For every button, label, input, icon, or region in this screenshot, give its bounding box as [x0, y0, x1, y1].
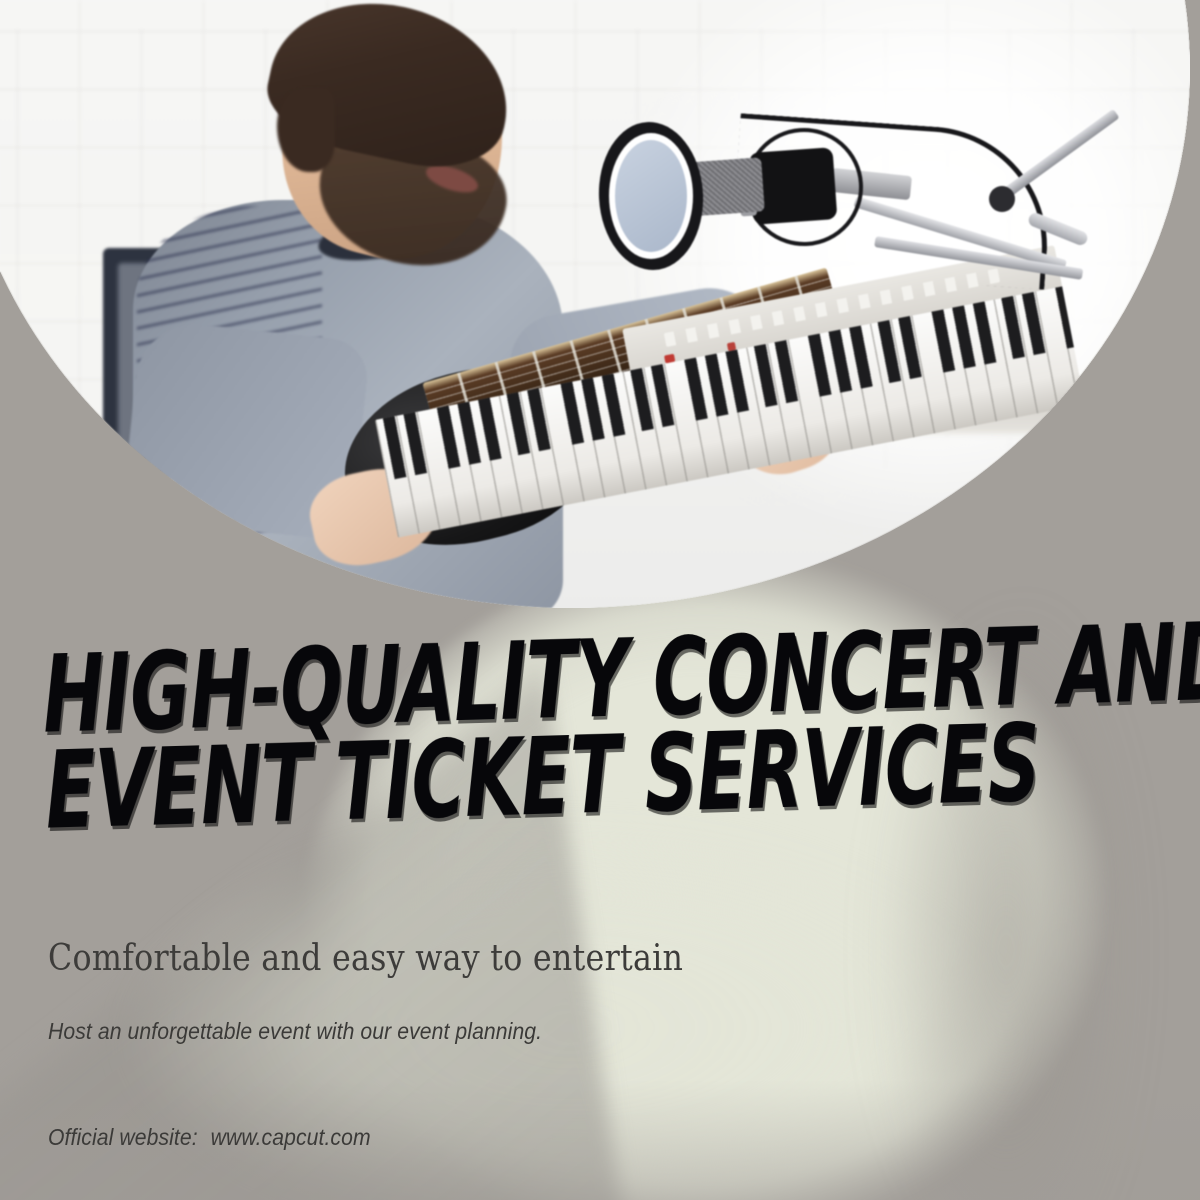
- pop-filter-mesh: [615, 140, 687, 252]
- hero-photo-scene: [0, 0, 1190, 608]
- website-label: Official website:: [48, 1124, 198, 1150]
- tagline-text: Host an unforgettable event with our eve…: [48, 1018, 542, 1045]
- headline-block: HIGH-QUALITY CONCERT AND EVENT TICKET SE…: [42, 621, 1097, 837]
- subheadline-text: Comfortable and easy way to entertain: [48, 938, 683, 979]
- hero-photo-inner: [0, 0, 1190, 608]
- headline-line-2: EVENT TICKET SERVICES: [44, 716, 887, 844]
- website-url[interactable]: www.capcut.com: [211, 1124, 371, 1150]
- poster-canvas: HIGH-QUALITY CONCERT AND EVENT TICKET SE…: [0, 0, 1200, 1200]
- boom-arm-joint: [989, 186, 1015, 212]
- official-website-line: Official website:www.capcut.com: [48, 1124, 371, 1151]
- hero-photo-ellipse: [0, 0, 1190, 608]
